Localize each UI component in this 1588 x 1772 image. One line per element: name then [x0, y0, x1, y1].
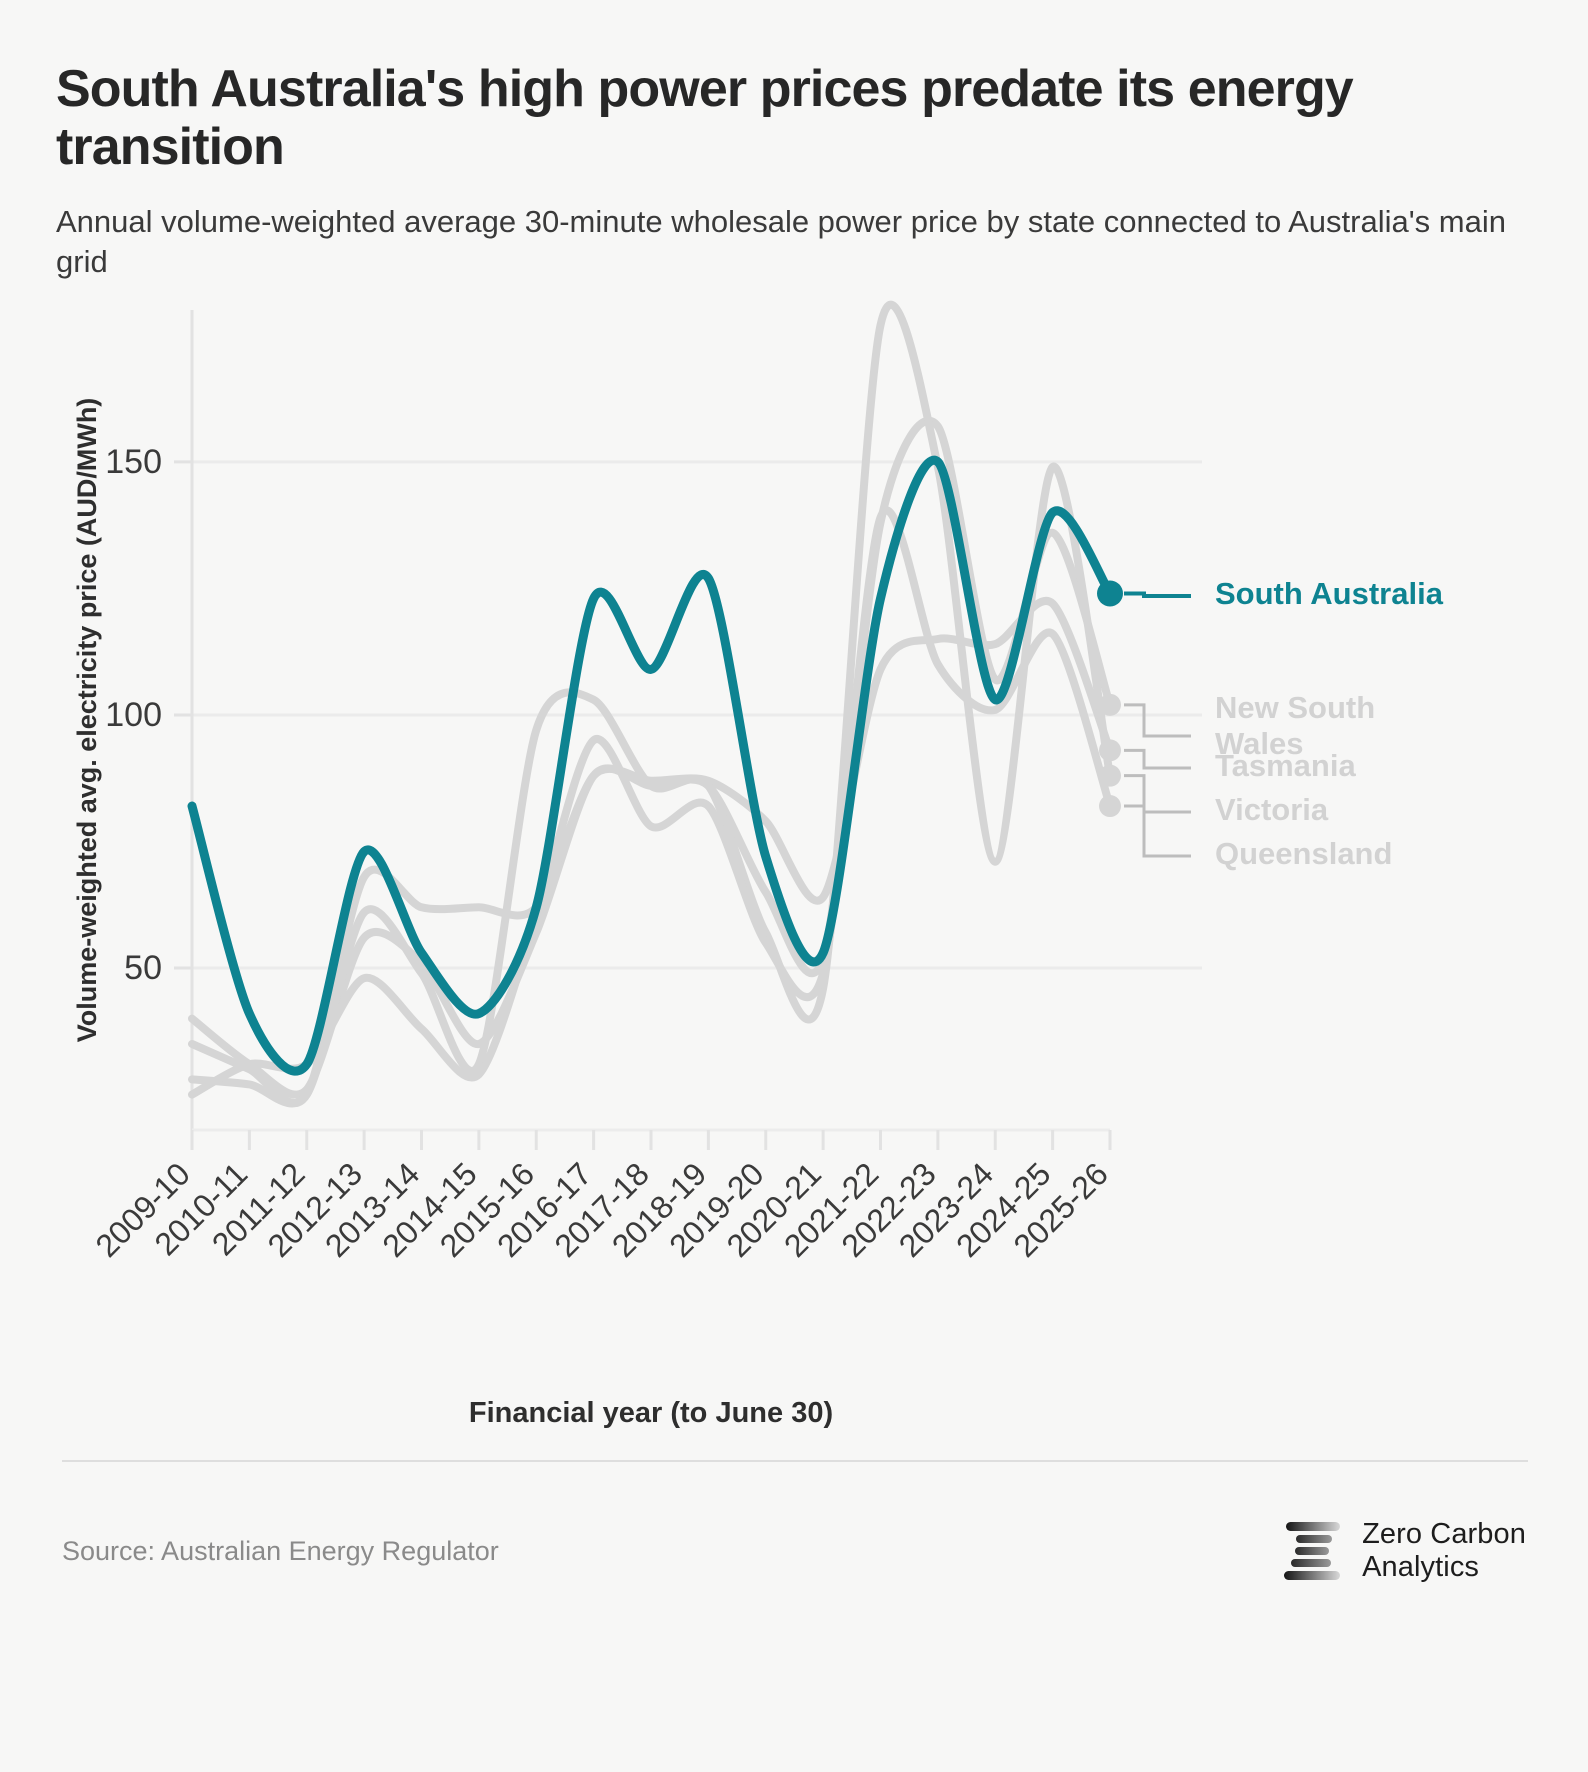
y-axis-tick-labels: 50100150 [105, 443, 162, 987]
series-end-dot [1097, 580, 1123, 606]
legend-connector [1124, 750, 1191, 768]
y-tick-label: 150 [105, 443, 162, 481]
legend-label[interactable]: Tasmania [1215, 748, 1356, 783]
chart-container: 50100150 2009-102010-112011-122012-13201… [50, 300, 1526, 1460]
gridlines [192, 462, 1202, 968]
series-end-dot [1099, 795, 1121, 817]
y-tick-label: 50 [124, 949, 162, 987]
legend-connector [1124, 593, 1191, 596]
brand-line-1: Zero Carbon [1362, 1518, 1526, 1552]
legend-connector [1124, 806, 1191, 856]
x-axis-ticks [192, 1130, 1110, 1150]
y-tick-label: 100 [105, 696, 162, 734]
zero-carbon-analytics-mark [1282, 1518, 1344, 1584]
y-axis-tick-marks [174, 462, 192, 968]
series-end-markers [1097, 580, 1191, 856]
legend-label[interactable]: South Australia [1215, 576, 1444, 611]
legend-label[interactable]: Victoria [1215, 792, 1329, 827]
legend-label[interactable]: Queensland [1215, 836, 1392, 871]
line-chart: 50100150 2009-102010-112011-122012-13201… [50, 300, 1526, 1460]
y-axis-title: Volume-weighted avg. electricity price (… [72, 398, 102, 1043]
footer: Source: Australian Energy Regulator [56, 1462, 1532, 1585]
legend-labels: South AustraliaNew SouthWalesTasmaniaVic… [1215, 576, 1444, 871]
series-end-dot [1099, 739, 1121, 761]
brand-line-2: Analytics [1362, 1551, 1526, 1585]
page-title: South Australia's high power prices pred… [56, 60, 1496, 176]
legend-connector [1124, 705, 1191, 736]
page-subtitle: Annual volume-weighted average 30-minute… [56, 202, 1506, 281]
chart-page: South Australia's high power prices pred… [0, 0, 1588, 1772]
series-end-dot [1099, 694, 1121, 716]
x-axis-title: Financial year (to June 30) [469, 1397, 833, 1429]
legend-label[interactable]: New South [1215, 690, 1375, 725]
source-note: Source: Australian Energy Regulator [62, 1536, 499, 1567]
x-axis-tick-labels: 2009-102010-112011-122012-132013-142014-… [88, 1155, 1114, 1263]
brand-wordmark: Zero Carbon Analytics [1362, 1518, 1526, 1585]
series-end-dot [1099, 764, 1121, 786]
brand-logo: Zero Carbon Analytics [1282, 1518, 1526, 1585]
